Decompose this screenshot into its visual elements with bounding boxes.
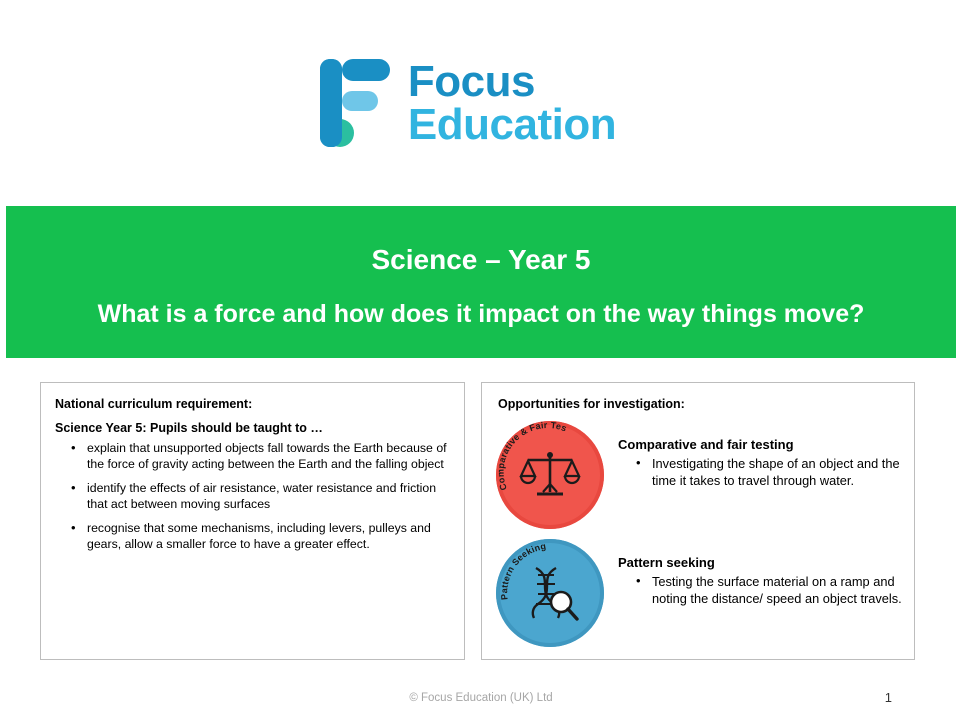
list-item: identify the effects of air resistance, … — [71, 481, 452, 512]
footer-copyright: © Focus Education (UK) Ltd — [0, 692, 962, 704]
pattern-seeking-text: Pattern seeking Testing the surface mate… — [618, 539, 902, 607]
balance-scales-icon — [519, 446, 581, 504]
investigation-title: Comparative and fair testing — [618, 437, 902, 452]
investigation-item-comparative-fair-testing: Comparative & Fair Testing Comparative a… — [496, 421, 902, 529]
logo-wordmark: Focus Education — [408, 60, 616, 146]
focus-education-f-logo — [318, 57, 394, 149]
investigation-item-pattern-seeking: Pattern Seeking Pattern seeking Testing … — [496, 539, 902, 647]
list-item: recognise that some mechanisms, includin… — [71, 521, 452, 552]
focus-education-logo: Focus Education — [318, 57, 616, 149]
curriculum-bullet-list: explain that unsupported objects fall to… — [53, 441, 452, 552]
comparative-fair-testing-text: Comparative and fair testing Investigati… — [618, 421, 902, 489]
investigation-title: Pattern seeking — [618, 555, 902, 570]
logo-area: Focus Education — [0, 0, 962, 206]
national-curriculum-panel: National curriculum requirement: Science… — [40, 382, 465, 660]
dna-magnifier-icon — [520, 564, 580, 622]
investigation-opportunities-panel: Opportunities for investigation: Compara — [481, 382, 915, 660]
logo-word-education: Education — [408, 103, 616, 146]
logo-word-focus: Focus — [408, 60, 616, 103]
slide-page: Focus Education Science – Year 5 What is… — [0, 0, 962, 722]
investigation-bullet-list: Testing the surface material on a ramp a… — [618, 574, 902, 607]
footer-page-number: 1 — [885, 690, 892, 705]
curriculum-panel-heading: National curriculum requirement: — [55, 397, 452, 411]
banner-key-question: What is a force and how does it impact o… — [6, 300, 956, 329]
comparative-fair-testing-badge: Comparative & Fair Testing — [496, 421, 604, 529]
banner-subject-year: Science – Year 5 — [6, 244, 956, 276]
pattern-seeking-badge: Pattern Seeking — [496, 539, 604, 647]
investigation-panel-heading: Opportunities for investigation: — [498, 397, 902, 411]
investigation-bullet-list: Investigating the shape of an object and… — [618, 456, 902, 489]
title-banner: Science – Year 5 What is a force and how… — [6, 206, 956, 358]
list-item: explain that unsupported objects fall to… — [71, 441, 452, 472]
curriculum-panel-subheading: Science Year 5: Pupils should be taught … — [55, 421, 452, 435]
list-item: Testing the surface material on a ramp a… — [636, 574, 902, 607]
list-item: Investigating the shape of an object and… — [636, 456, 902, 489]
